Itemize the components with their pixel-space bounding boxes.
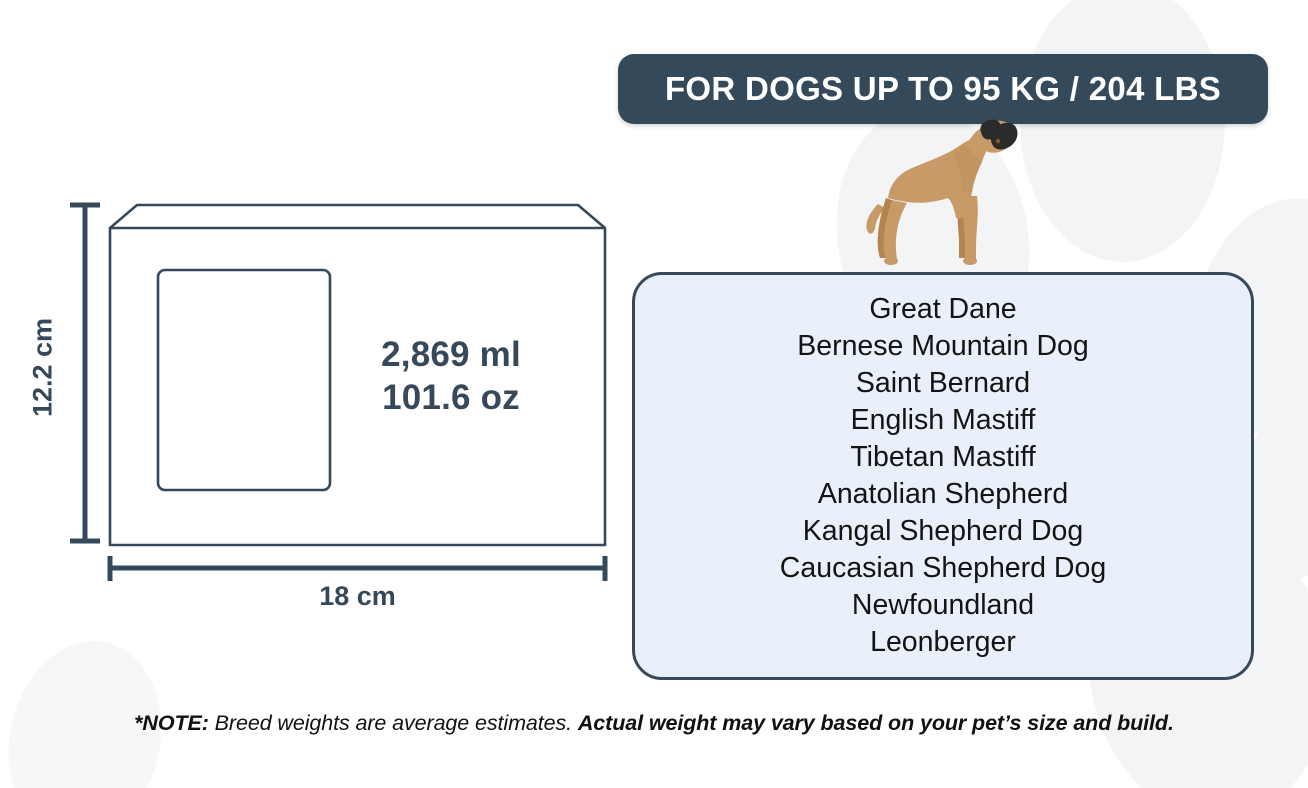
weight-capacity-banner: FOR DOGS UP TO 95 KG / 204 LBS [618,54,1268,124]
dog-eye [996,139,1000,143]
height-label: 12.2 cm [28,303,59,433]
footnote-label: *NOTE: [134,711,209,735]
list-item: Caucasian Shepherd Dog [780,550,1106,587]
volume-oz-value: 101.6 oz [336,376,566,419]
list-item: Bernese Mountain Dog [797,328,1089,365]
list-item: Anatolian Shepherd [818,476,1068,513]
list-item: Kangal Shepherd Dog [803,513,1083,550]
list-item: English Mastiff [851,402,1036,439]
list-item: Newfoundland [852,587,1034,624]
footnote-emphasis-text: Actual weight may vary based on your pet… [578,711,1174,735]
list-item: Leonberger [870,624,1016,661]
footnote-normal-text: Breed weights are average estimates. [209,711,578,735]
background-blob-icon [1020,0,1225,262]
box-window-panel [158,270,330,490]
crate-volume-text: 2,869 ml 101.6 oz [336,333,566,420]
list-item: Great Dane [869,291,1016,328]
dog-paw-front [963,257,977,265]
volume-ml-value: 2,869 ml [336,333,566,376]
height-dimension-line [70,205,100,541]
great-dane-icon [858,118,1018,270]
list-item: Tibetan Mastiff [850,439,1035,476]
width-label: 18 cm [250,581,465,612]
dog-paw-rear [884,257,898,265]
breed-list-panel: Great Dane Bernese Mountain Dog Saint Be… [632,272,1254,680]
crate-dimension-diagram: 2,869 ml 101.6 oz 18 cm 12.2 cm [0,0,630,640]
infographic-canvas: 2,869 ml 101.6 oz 18 cm 12.2 cm FOR DOGS… [0,0,1308,788]
width-dimension-line [110,556,605,581]
footnote-disclaimer: *NOTE: Breed weights are average estimat… [0,711,1308,736]
banner-title: FOR DOGS UP TO 95 KG / 204 LBS [665,70,1221,108]
background-blob-icon [0,627,179,788]
box-outline-svg [0,0,630,640]
list-item: Saint Bernard [856,365,1030,402]
